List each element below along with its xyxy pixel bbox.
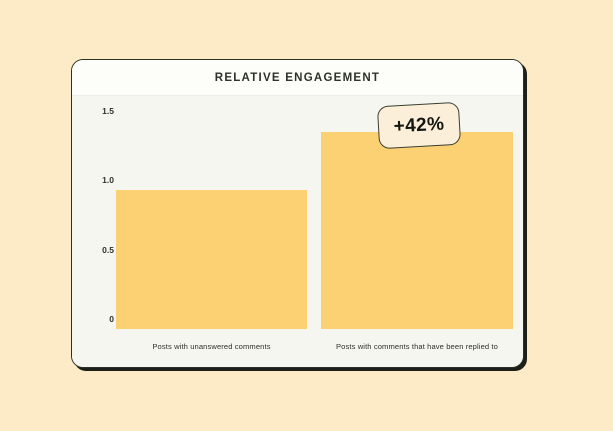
bar[interactable] <box>321 132 513 329</box>
y-axis-tick-label: 0.5 <box>72 245 114 255</box>
x-axis-category-label: Posts with comments that have been repli… <box>321 342 513 351</box>
screenshot-root: RELATIVE ENGAGEMENT 00.51.01.5Posts with… <box>0 0 613 431</box>
percent-increase-badge: +42% <box>377 102 461 150</box>
percent-increase-label: +42% <box>393 115 445 137</box>
chart-card-header: RELATIVE ENGAGEMENT <box>72 60 523 96</box>
bar[interactable] <box>116 190 307 329</box>
y-axis-tick-label: 0 <box>72 314 114 324</box>
chart-title: RELATIVE ENGAGEMENT <box>215 72 380 84</box>
y-axis-tick-label: 1.5 <box>72 106 114 116</box>
x-axis-category-label: Posts with unanswered comments <box>116 342 307 351</box>
y-axis-tick-label: 1.0 <box>72 175 114 185</box>
